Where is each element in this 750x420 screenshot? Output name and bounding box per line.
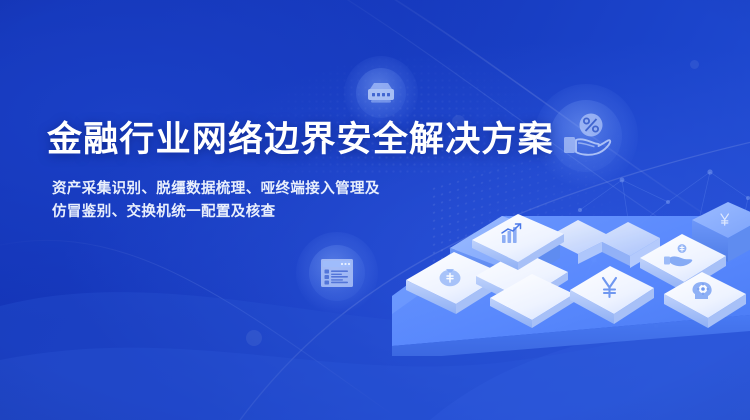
page-subtitle-line-2: 仿冒鉴别、交换机统一配置及核查 bbox=[52, 201, 412, 224]
network-switch-icon bbox=[364, 80, 398, 106]
document-list-icon bbox=[319, 257, 355, 289]
page-subtitle-line-1: 资产采集识别、脱缰数据梳理、哑终端接入管理及 bbox=[52, 178, 412, 201]
page-subtitle: 资产采集识别、脱缰数据梳理、哑终端接入管理及 仿冒鉴别、交换机统一配置及核查 bbox=[52, 178, 412, 224]
hand-percent-coin-icon bbox=[559, 112, 613, 160]
page-title: 金融行业网络边界安全解决方案 bbox=[47, 118, 554, 162]
finance-network-security-banner: 金融行业网络边界安全解决方案 资产采集识别、脱缰数据梳理、哑终端接入管理及 仿冒… bbox=[0, 0, 750, 420]
headline-block: 金融行业网络边界安全解决方案 资产采集识别、脱缰数据梳理、哑终端接入管理及 仿冒… bbox=[47, 118, 554, 224]
